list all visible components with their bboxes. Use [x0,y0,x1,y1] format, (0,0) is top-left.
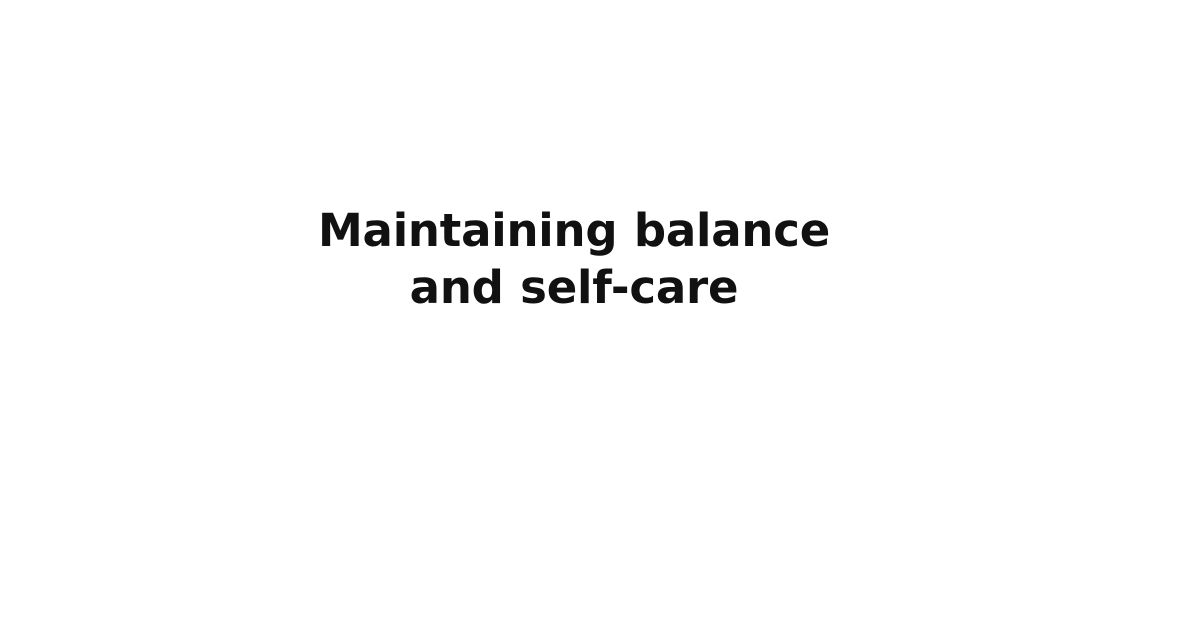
poster-canvas: Maintaining balance and self-care [0,0,1200,630]
title-block: Maintaining balance and self-care [264,203,884,316]
page-title: Maintaining balance and self-care [264,203,884,316]
